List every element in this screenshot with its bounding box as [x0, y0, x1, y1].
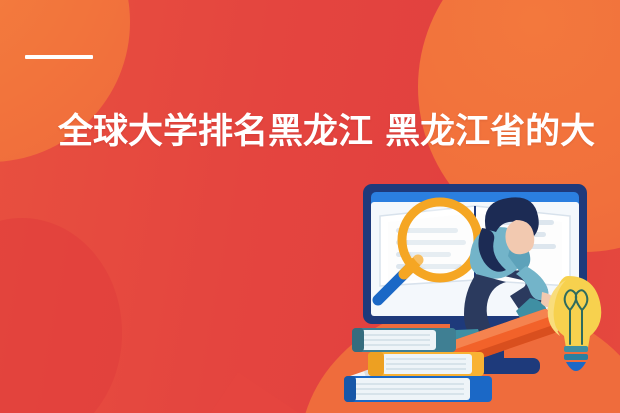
- book-teal: [352, 328, 456, 352]
- page-title: 全球大学排名黑龙江 黑龙江省的大: [58, 110, 618, 154]
- book-blue: [344, 376, 492, 402]
- book-yellow: [368, 352, 484, 376]
- online-study-search-illustration: [330, 168, 620, 413]
- banner-root: 全球大学排名黑龙江 黑龙江省的大: [0, 0, 620, 413]
- lightbulb: [548, 276, 602, 371]
- accent-rule: [25, 55, 93, 59]
